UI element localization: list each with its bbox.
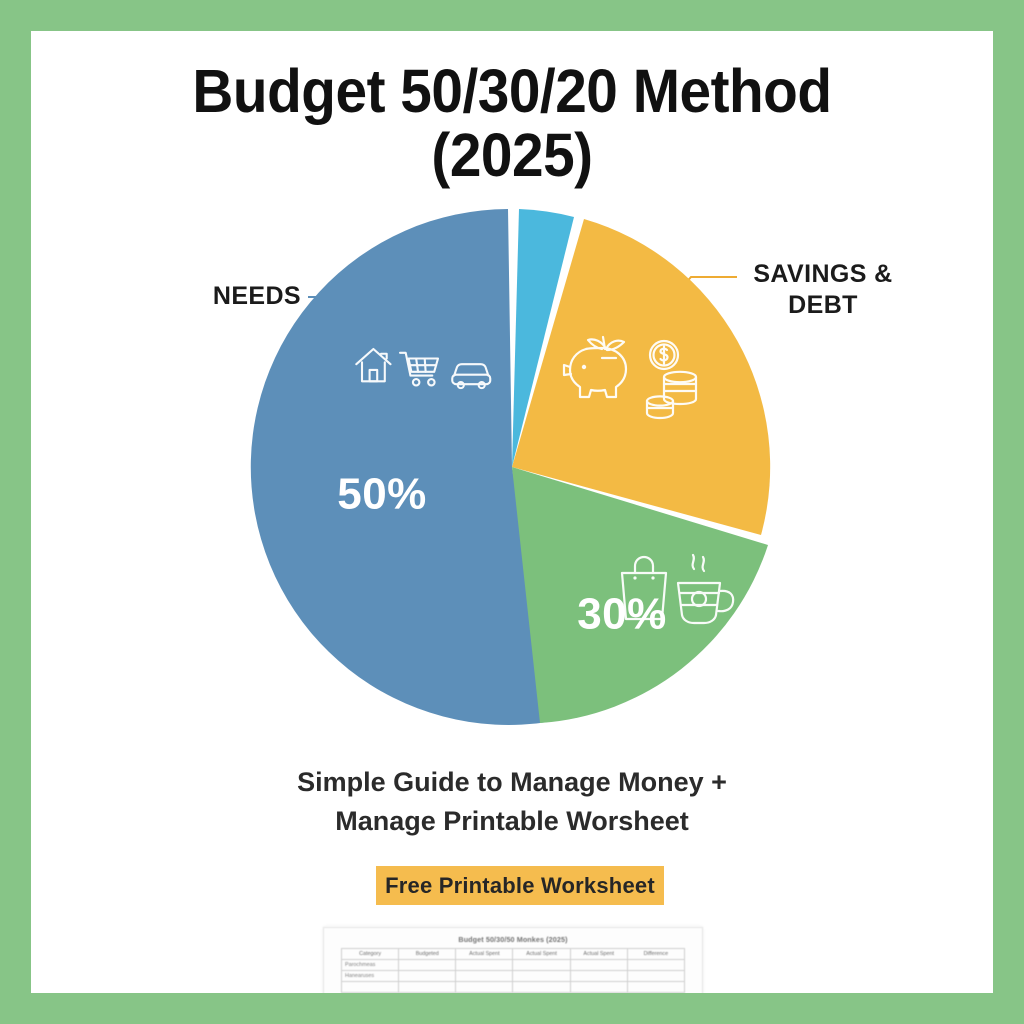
worksheet-col-3: Actual Spent (513, 949, 570, 960)
worksheet-cell (399, 971, 456, 982)
worksheet-col-0: Category (342, 949, 399, 960)
title-line-1: Budget 50/30/20 Method (65, 59, 960, 123)
table-row: Parochmeas (342, 960, 685, 971)
slice-value-needs: 50% (337, 470, 427, 519)
worksheet-preview[interactable]: Budget 50/30/50 Monkes (2025) Category B… (323, 927, 703, 993)
worksheet-cell (513, 971, 570, 982)
worksheet-cell: Parochmeas (342, 960, 399, 971)
table-row: Hanearuses (342, 971, 685, 982)
worksheet-cell (456, 960, 513, 971)
worksheet-col-1: Budgeted (399, 949, 456, 960)
pie-slice-needs[interactable] (251, 209, 548, 725)
subtitle-line-1: Simple Guide to Manage Money + (31, 763, 993, 802)
infographic-poster: Budget 50/30/20 Method (2025) NEEDS SAVI… (0, 0, 1024, 1024)
worksheet-cell: Hanearuses (342, 971, 399, 982)
dollar-coin-icon (650, 341, 678, 369)
pie-chart: NEEDS SAVINGS & DEBT (31, 181, 993, 741)
free-printable-worksheet-button[interactable]: Free Printable Worksheet (376, 866, 664, 905)
worksheet-cell (456, 982, 513, 993)
worksheet-cell (456, 971, 513, 982)
worksheet-col-5: Difference (627, 949, 684, 960)
worksheet-cell (513, 960, 570, 971)
worksheet-cell (399, 982, 456, 993)
worksheet-cell (570, 982, 627, 993)
page-title: Budget 50/30/20 Method (2025) (31, 59, 993, 187)
worksheet-cell (627, 960, 684, 971)
worksheet-cell (570, 960, 627, 971)
worksheet-col-4: Actual Spent (570, 949, 627, 960)
worksheet-table: Category Budgeted Actual Spent Actual Sp… (341, 948, 685, 993)
worksheet-cell (627, 971, 684, 982)
subtitle: Simple Guide to Manage Money + Manage Pr… (31, 763, 993, 841)
table-row (342, 982, 685, 993)
worksheet-cell (627, 982, 684, 993)
worksheet-title: Budget 50/30/50 Monkes (2025) (324, 928, 702, 948)
title-line-2: (2025) (65, 123, 960, 187)
cta-label: Free Printable Worksheet (385, 873, 655, 899)
subtitle-line-2: Manage Printable Worsheet (31, 802, 993, 841)
pie-svg: 50% 30% (242, 197, 782, 737)
worksheet-header-row: Category Budgeted Actual Spent Actual Sp… (342, 949, 685, 960)
worksheet-cell (570, 971, 627, 982)
poster-card: Budget 50/30/20 Method (2025) NEEDS SAVI… (31, 31, 993, 993)
worksheet-cell (342, 982, 399, 993)
worksheet-cell (399, 960, 456, 971)
worksheet-col-2: Actual Spent (456, 949, 513, 960)
slice-value-wants: 30% (577, 590, 667, 639)
worksheet-cell (513, 982, 570, 993)
